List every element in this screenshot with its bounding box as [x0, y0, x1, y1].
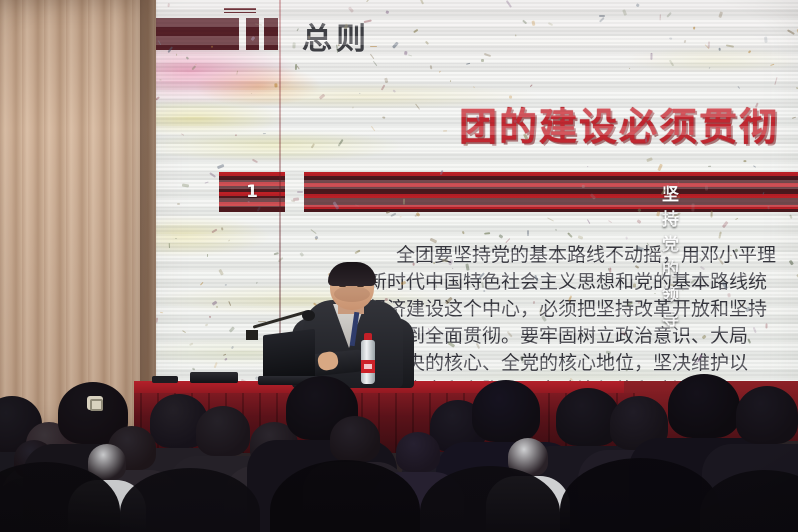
header-block-mid: [246, 18, 259, 50]
body-line: 全团要坚持党的基本路线不动摇，用邓小平理: [368, 242, 798, 269]
header-accent-lines: [224, 8, 256, 14]
audience-person-head: [196, 406, 250, 456]
microphone-head: [302, 310, 315, 321]
section-band-bar: [304, 172, 798, 212]
presenter-hair: [328, 262, 376, 286]
section-number: 1: [246, 182, 258, 202]
body-line: 中得到全面贯彻。要牢固树立政治意识、大局: [368, 323, 798, 350]
curtain-shading: [0, 0, 156, 430]
audience-person-head: [472, 380, 540, 442]
header-block-large: [144, 18, 239, 50]
photo-frame: 总则 团的建设必须贯彻 1 坚持党的领导 全团要坚持党的基本路线不动摇，用邓小平…: [0, 0, 798, 532]
projection-screen: 总则 团的建设必须贯彻 1 坚持党的领导 全团要坚持党的基本路线不动摇，用邓小平…: [154, 0, 798, 420]
slide-content: 总则 团的建设必须贯彻 1 坚持党的领导 全团要坚持党的基本路线不动摇，用邓小平…: [154, 0, 798, 420]
bottle-label: [361, 360, 375, 373]
face-shading: [334, 286, 370, 302]
water-bottle: [361, 340, 375, 384]
body-line: 新时代中国特色社会主义思想和党的基本路线统: [368, 269, 798, 296]
audience-person-head: [396, 432, 440, 472]
slide-header-title: 总则: [302, 14, 370, 58]
section-number-box: 1: [219, 172, 285, 212]
audience-members: [0, 382, 798, 532]
audience-person-head: [330, 416, 380, 462]
body-line: 经济建设这个中心，必须把坚持改革开放和坚持: [368, 296, 798, 323]
curtain-edge-shadow: [140, 0, 158, 430]
body-line: 党中央的核心、全党的核心地位，坚决维护以: [368, 350, 798, 377]
bottle-cap: [364, 333, 372, 340]
slide-headline: 团的建设必须贯彻: [459, 96, 779, 151]
audience-person-head: [668, 374, 740, 438]
audience-person-head: [736, 386, 798, 444]
header-block-small: [264, 18, 278, 50]
hair-clip: [87, 396, 103, 410]
microphone-base: [246, 330, 258, 340]
stage-curtain: [0, 0, 156, 430]
